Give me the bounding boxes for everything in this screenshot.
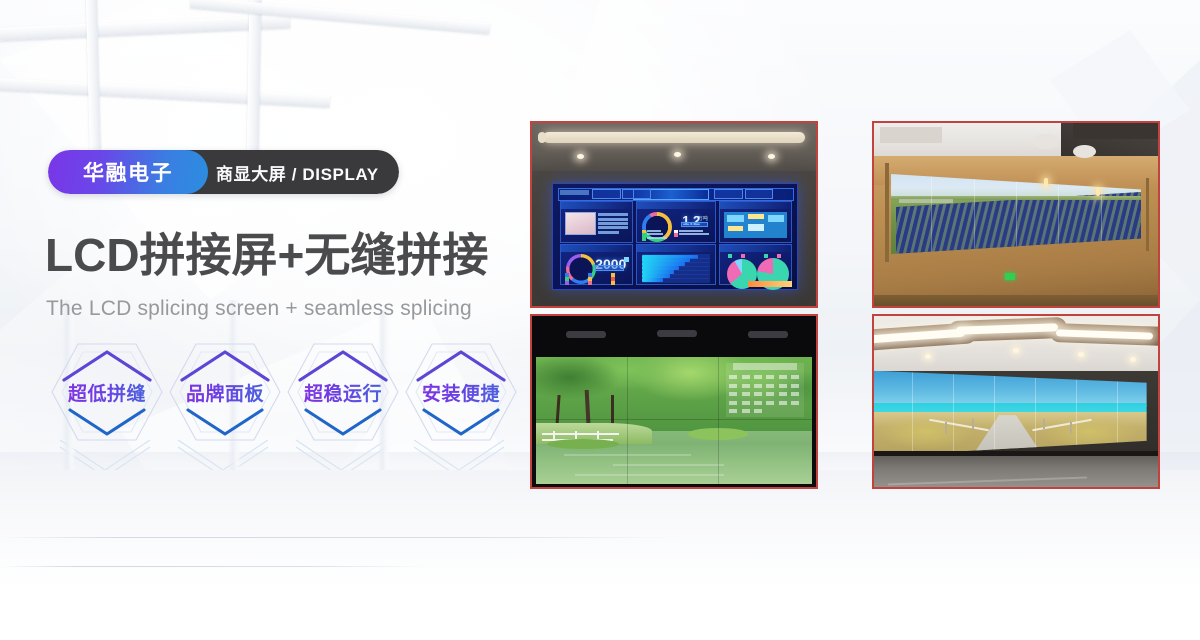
- brand-name: 华融电子: [48, 150, 208, 194]
- willow-lake-screen: [536, 357, 812, 484]
- brand-pill[interactable]: 华融电子 商显大屏 / DISPLAY: [48, 150, 399, 194]
- floor-line-2: [0, 566, 430, 567]
- photo-solar-farm-wall[interactable]: [872, 121, 1160, 308]
- dashboard-screen: 1.2 万吨: [552, 183, 798, 289]
- page-title: LCD拼接屏+无缝拼接: [45, 232, 488, 278]
- calendar-overlay: [726, 363, 803, 417]
- feature-hex-1[interactable]: 超低拼缝: [48, 338, 166, 446]
- photo-beach-boardwalk-wall[interactable]: [872, 314, 1160, 489]
- photo-dashboard-video-wall[interactable]: 1.2 万吨: [530, 121, 818, 308]
- feature-hex-3[interactable]: 超稳运行: [284, 338, 402, 446]
- feature-hex-4[interactable]: 安装便捷: [402, 338, 520, 446]
- banner-stage: 华融电子 商显大屏 / DISPLAY LCD拼接屏+无缝拼接 The LCD …: [0, 0, 1200, 640]
- feature-hex-2[interactable]: 品牌面板: [166, 338, 284, 446]
- feature-hex-label-4: 安装便捷: [402, 338, 520, 446]
- photo-willow-lake-wall[interactable]: [530, 314, 818, 489]
- feature-hex-label-3: 超稳运行: [284, 338, 402, 446]
- feature-hex-label-1: 超低拼缝: [48, 338, 166, 446]
- feature-hex-label-2: 品牌面板: [166, 338, 284, 446]
- floor: [0, 470, 1200, 640]
- brand-category: 商显大屏 / DISPLAY: [186, 150, 399, 194]
- floor-line-1: [0, 537, 680, 538]
- page-subtitle: The LCD splicing screen + seamless splic…: [46, 297, 472, 321]
- feature-hex-row: 超低拼缝 品牌面板 超稳运行: [48, 338, 518, 446]
